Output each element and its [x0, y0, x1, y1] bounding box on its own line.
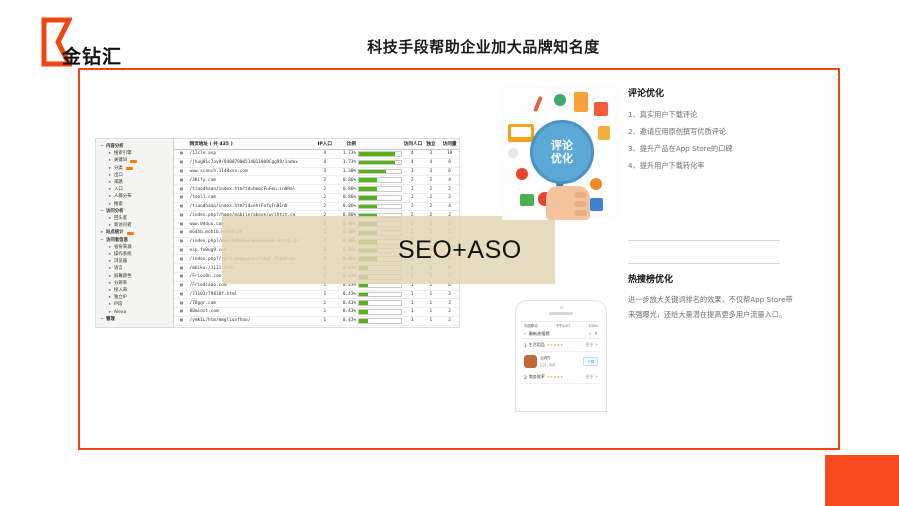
tree-item-label: 搜索	[114, 201, 123, 208]
table-row[interactable]: ▤/tool1.com20.86%223	[174, 193, 459, 202]
cell-ip: 1	[315, 290, 334, 299]
tree-item[interactable]: ▸来路	[99, 179, 171, 186]
download-button[interactable]: 下载	[583, 357, 598, 366]
expand-icon[interactable]: ▸	[108, 251, 112, 258]
tree-item-label: 搜索引擎	[114, 150, 132, 157]
expand-icon[interactable]: ▸	[108, 301, 112, 308]
cell-bar	[357, 290, 403, 299]
review-list-item: 1、真实用户下载评论	[628, 106, 798, 123]
cell-views: 2	[440, 185, 459, 194]
shield-icon	[554, 94, 566, 106]
cell-unique: 1	[422, 308, 441, 317]
cloud-icon	[508, 148, 518, 158]
expand-icon[interactable]: ▸	[108, 280, 112, 287]
cell-bar	[357, 167, 403, 176]
calendar-icon	[594, 102, 608, 116]
table-row[interactable]: ▤/12cle.asp41.73%4310	[174, 150, 459, 159]
more-link[interactable]: 更多 >	[585, 342, 598, 348]
cell-url: /tiaodhaan/index.htm?id=hmocFnFmn.in0Ral	[189, 185, 316, 194]
table-header-cell[interactable]	[174, 139, 189, 150]
cell-ip: 1	[315, 316, 334, 325]
progress-track	[358, 204, 402, 210]
progress-track	[358, 318, 402, 324]
page-icon: ▤	[174, 167, 189, 176]
review-list-item: 2、邀请应用原创撰写优质评论	[628, 123, 798, 140]
cell-visitors: 4	[403, 150, 422, 159]
cell-ip: 1	[315, 308, 334, 317]
page-icon: ▤	[174, 158, 189, 167]
cell-percent: 0.86%	[334, 193, 357, 202]
tree-item[interactable]: ▸分类	[99, 165, 171, 172]
page-icon: ▤	[174, 202, 189, 211]
rank-number: 1	[524, 343, 527, 348]
app-icon	[524, 355, 537, 368]
cell-unique: 2	[422, 185, 441, 194]
cell-views: 10	[440, 150, 459, 159]
qrcode-icon	[520, 194, 534, 206]
status-bar: 中国移动 下午4:57 100%	[521, 322, 601, 329]
cell-visitors: 4	[403, 158, 422, 167]
tree-item[interactable]: ▸接入商	[99, 287, 171, 294]
expand-icon[interactable]: ▸	[108, 244, 112, 251]
expand-icon[interactable]: ▸	[108, 150, 112, 157]
page-icon: ▤	[174, 150, 189, 159]
search-icon[interactable]: ⌕	[589, 331, 591, 337]
table-row[interactable]: ▤www.scanch.1140xxx.com31.30%336	[174, 167, 459, 176]
cell-bar	[357, 202, 403, 211]
progress-track	[358, 195, 402, 201]
review-list-item: 4、提升用户下载转化率	[628, 157, 798, 174]
progress-fill	[359, 310, 368, 314]
table-row[interactable]: ▤/tiaodhaan/index.htm?id=hmocFnFmn.in0Ra…	[174, 185, 459, 194]
magnifier-label-line1: 评论	[551, 139, 573, 152]
tree-item[interactable]: −访问分析	[99, 208, 171, 215]
progress-track	[358, 309, 402, 315]
page-icon: ▤	[174, 281, 189, 290]
speaker-icon	[549, 312, 573, 315]
progress-fill	[359, 178, 377, 182]
cell-unique: 3	[422, 167, 441, 176]
share-network-icon	[590, 198, 603, 211]
progress-fill	[359, 196, 377, 200]
table-row[interactable]: ▤/71102/79810f.html10.43%113	[174, 290, 459, 299]
cell-visitors: 1	[403, 316, 422, 325]
page-icon: ▤	[174, 220, 189, 229]
tree-item-label: 操作系统	[114, 251, 132, 258]
progress-fill	[359, 284, 368, 288]
tree-item-label: 省份来源	[114, 244, 132, 251]
cell-views: 3	[440, 290, 459, 299]
table-row[interactable]: ▤/ymk1L/htm/mmgliovfhao/10.43%112	[174, 316, 459, 325]
cell-unique: 4	[422, 158, 441, 167]
tree-item[interactable]: ▸搜索	[99, 201, 171, 208]
tree-item[interactable]: ▸回头客	[99, 215, 171, 222]
cell-views: 4	[440, 202, 459, 211]
chevron-left-icon[interactable]: ‹	[524, 331, 526, 336]
expand-icon[interactable]: ▸	[108, 294, 112, 301]
cell-unique: 1	[422, 290, 441, 299]
laptop-icon	[508, 124, 534, 142]
analytics-tree[interactable]: −内容分析▸搜索引擎▸关键词▸分类▸出口▸来路▸入口▸人群分布▸搜索−访问分析▸…	[96, 139, 174, 327]
mobile-app-icon	[574, 92, 588, 112]
table-header-row: 网页地址 ( 共 435 )IP入口比例访问人口独立访问量	[174, 139, 459, 150]
collapse-icon[interactable]: −	[100, 143, 104, 150]
tree-item[interactable]: ▸独立IP	[99, 294, 171, 301]
hotlist-heading: 热搜榜优化	[628, 272, 798, 285]
tree-item[interactable]: ▸IP段	[99, 301, 171, 308]
progress-fill	[359, 293, 368, 297]
cell-url: /tool1.com	[189, 193, 316, 202]
phone-screen: 中国移动 下午4:57 100% ‹ 最新热搜榜 ⌕ ⇪ 1生活用品★★★★★更…	[521, 321, 601, 411]
rank-section-header[interactable]: 1生活用品★★★★★更多 >	[521, 339, 601, 352]
cell-unique: 2	[422, 176, 441, 185]
carrier-label: 中国移动	[524, 323, 538, 328]
tree-item[interactable]: ▸关键词	[99, 157, 171, 164]
tree-item[interactable]: ▸分辨率	[99, 280, 171, 287]
clock-label: 下午4:57	[556, 323, 570, 328]
tree-item-label: 出口	[114, 172, 123, 179]
share-icon[interactable]: ⇪	[594, 331, 598, 336]
page-icon: ▤	[174, 316, 189, 325]
tree-item-label: 内容分析	[106, 143, 124, 150]
rank-title: 商务效率	[529, 374, 545, 380]
review-list-item: 3、提升产品在App Store的口碑	[628, 140, 798, 157]
tree-item[interactable]: ▸屏幕颜色	[99, 273, 171, 280]
battery-label: 100%	[588, 324, 598, 328]
progress-track	[358, 169, 402, 175]
cell-bar	[357, 185, 403, 194]
collapse-icon[interactable]: −	[100, 237, 104, 244]
progress-fill	[359, 187, 377, 191]
cell-visitors: 2	[403, 185, 422, 194]
cell-url: /ymk1L/htm/mmgliovfhao/	[189, 316, 316, 325]
hotlist-block: 热搜榜优化 进一步放大关键词排名的效果，不仅帮App Store带来强曝光，还给…	[628, 272, 798, 322]
cell-percent: 1.30%	[334, 167, 357, 176]
cell-bar	[357, 308, 403, 317]
progress-track	[358, 186, 402, 192]
tree-item-label: 屏幕颜色	[114, 273, 132, 280]
tree-item-label: 独立IP	[114, 294, 127, 301]
expand-icon[interactable]: ▸	[108, 215, 112, 222]
cell-ip: 4	[315, 158, 334, 167]
cell-ip: 4	[315, 150, 334, 159]
table-row[interactable]: ▤80miost.com10.43%112	[174, 308, 459, 317]
more-link[interactable]: 更多 >	[585, 374, 598, 380]
progress-track	[358, 177, 402, 183]
tree-item[interactable]: ▸操作系统	[99, 251, 171, 258]
cell-ip: 2	[315, 185, 334, 194]
cell-views: 2	[440, 308, 459, 317]
tree-item-label: 访问者信息	[106, 237, 128, 244]
cell-views: 6	[440, 167, 459, 176]
location-pin-icon	[516, 168, 528, 180]
cell-unique: 3	[422, 150, 441, 159]
table-header-cell[interactable]: 独立	[422, 139, 441, 150]
page-icon: ▤	[174, 176, 189, 185]
table-header-cell[interactable]: 访问量	[440, 139, 459, 150]
app-name: 云闪付	[540, 356, 580, 361]
rank-section-header[interactable]: 2商务效率★★★★★更多 >	[521, 371, 601, 384]
progress-fill	[359, 301, 368, 305]
tree-item[interactable]: ▸Alexa	[99, 309, 171, 316]
phone-earpiece	[516, 301, 606, 319]
cell-ip: 2	[315, 202, 334, 211]
expand-icon[interactable]: ▸	[108, 287, 112, 294]
expand-icon[interactable]: ▸	[108, 157, 112, 164]
review-block: 评论优化 1、真实用户下载评论2、邀请应用原创撰写优质评论3、提升产品在App …	[628, 86, 798, 174]
progress-track	[358, 292, 402, 298]
cell-ip: 3	[315, 167, 334, 176]
cell-unique: 2	[422, 202, 441, 211]
page-icon: ▤	[174, 193, 189, 202]
app-category: 生活 | 免费	[540, 362, 580, 367]
cell-visitors: 2	[403, 176, 422, 185]
tree-item[interactable]: ▸站点统计	[99, 229, 171, 236]
hand-graphic	[546, 186, 590, 220]
tree-item-label: 新访问者	[114, 222, 132, 229]
expand-icon[interactable]: ▸	[108, 201, 112, 208]
cell-views: 3	[440, 299, 459, 308]
expand-icon[interactable]: ▸	[108, 179, 112, 186]
overlay-label: SEO+ASO	[398, 236, 522, 265]
tree-item-label: IP段	[114, 301, 122, 308]
page-icon: ▤	[174, 237, 189, 246]
cell-unique: 1	[422, 299, 441, 308]
tree-item-label: 入口	[114, 186, 123, 193]
rating-stars-icon: ★★★★★	[547, 343, 564, 347]
page-icon: ▤	[174, 308, 189, 317]
cell-bar	[357, 176, 403, 185]
tree-item-label: Alexa	[114, 309, 126, 316]
tree-item-label: 分辨率	[114, 280, 127, 287]
progress-fill	[359, 205, 377, 209]
cell-visitors: 1	[403, 290, 422, 299]
cell-visitors: 2	[403, 202, 422, 211]
cell-unique: 1	[422, 316, 441, 325]
progress-fill	[359, 319, 368, 323]
table-header-cell[interactable]	[357, 139, 403, 150]
expand-icon[interactable]: ▸	[108, 258, 112, 265]
cell-visitors: 2	[403, 193, 422, 202]
rating-stars-icon: ★★★★★	[547, 375, 564, 379]
review-illustration: 评论 优化	[502, 82, 618, 220]
review-heading: 评论优化	[628, 86, 798, 99]
expand-icon[interactable]: ▸	[108, 273, 112, 280]
cell-bar	[357, 316, 403, 325]
expand-icon[interactable]: ▸	[108, 265, 112, 272]
tree-item[interactable]: −内容分析	[99, 143, 171, 150]
cell-views: 8	[440, 158, 459, 167]
new-badge-icon	[130, 160, 137, 163]
table-header-cell[interactable]: 网页地址 ( 共 435 )	[189, 139, 316, 150]
progress-fill	[359, 152, 395, 156]
table-header-cell[interactable]: IP入口	[315, 139, 334, 150]
cell-views: 3	[440, 193, 459, 202]
cell-bar	[357, 193, 403, 202]
cell-ip: 1	[315, 299, 334, 308]
page-icon: ▤	[174, 299, 189, 308]
slide-canvas: 金钻汇 科技手段帮助企业加大品牌知名度 −内容分析▸搜索引擎▸关键词▸分类▸出口…	[0, 0, 899, 506]
divider-top	[628, 240, 780, 241]
tree-item-label: 分类	[114, 165, 123, 172]
table-row[interactable]: ▤/3Kify.com20.86%224	[174, 176, 459, 185]
page-icon: ▤	[174, 246, 189, 255]
cell-url: /12cle.asp	[189, 150, 316, 159]
rank-title: 生活用品	[529, 342, 545, 348]
tree-item-label: 来路	[114, 179, 123, 186]
cell-percent: 0.86%	[334, 202, 357, 211]
cell-url: /78ggr.com	[189, 299, 316, 308]
cell-percent: 1.73%	[334, 150, 357, 159]
cell-percent: 0.86%	[334, 185, 357, 194]
cell-unique: 2	[422, 193, 441, 202]
tree-item[interactable]: ▸新访问者	[99, 222, 171, 229]
expand-icon[interactable]: ▸	[108, 222, 112, 229]
progress-fill	[359, 161, 395, 165]
progress-track	[358, 160, 402, 166]
page-title-text: 科技手段帮助企业加大品牌知名度	[367, 36, 600, 57]
table-header-cell[interactable]: 访问人口	[403, 139, 422, 150]
phone-mockup: 中国移动 下午4:57 100% ‹ 最新热搜榜 ⌕ ⇪ 1生活用品★★★★★更…	[515, 300, 607, 412]
tree-item[interactable]: ▸搜索引擎	[99, 150, 171, 157]
progress-track	[358, 151, 402, 157]
expand-icon[interactable]: ▸	[108, 165, 112, 172]
table-row[interactable]: ▤/tiaodhaan/index.htm?id=ehrFofuFn01n020…	[174, 202, 459, 211]
page-title: 科技手段帮助企业加大品牌知名度	[0, 36, 899, 57]
table-row[interactable]: ▤/78ggr.com10.43%113	[174, 299, 459, 308]
tree-item[interactable]: ▸浏览器	[99, 258, 171, 265]
cell-url: /3Kify.com	[189, 176, 316, 185]
expand-icon[interactable]: ▸	[108, 309, 112, 316]
cell-percent: 1.73%	[334, 158, 357, 167]
page-icon: ▤	[174, 290, 189, 299]
cell-url: www.scanch.1140xxx.com	[189, 167, 316, 176]
review-list: 1、真实用户下载评论2、邀请应用原创撰写优质评论3、提升产品在App Store…	[628, 106, 798, 174]
cell-bar	[357, 158, 403, 167]
page-icon: ▤	[174, 272, 189, 281]
tree-item-label: 站点统计	[106, 229, 124, 236]
tree-item-label: 浏览器	[114, 258, 127, 265]
collapse-icon[interactable]: −	[100, 316, 104, 323]
cell-bar	[357, 150, 403, 159]
tree-item[interactable]: −管理	[99, 316, 171, 323]
app-meta: 云闪付生活 | 免费	[540, 356, 580, 367]
cell-bar	[357, 299, 403, 308]
tree-item[interactable]: ▸出口	[99, 172, 171, 179]
app-list-item[interactable]: 云闪付生活 | 免费下载	[521, 352, 601, 371]
cell-percent: 0.43%	[334, 299, 357, 308]
magnifier-icon: 评论 优化	[530, 120, 594, 184]
cell-url: /jhug01c7ov9/94007900514011009Cgg98/inde…	[189, 158, 316, 167]
hotlist-paragraph: 进一步放大关键词排名的效果，不仅帮App Store带来强曝光，还给大量潜在提高…	[628, 292, 798, 322]
cell-ip: 2	[315, 193, 334, 202]
tree-item[interactable]: ▸语言	[99, 265, 171, 272]
new-badge-icon	[126, 167, 133, 170]
note-icon	[598, 126, 610, 140]
tree-item-label: 语言	[114, 265, 123, 272]
cell-url: /tiaodhaan/index.htm?id=ehrFofuFn01n0	[189, 202, 316, 211]
divider-bottom	[628, 263, 780, 264]
table-header-cell[interactable]: 比例	[334, 139, 357, 150]
page-icon: ▤	[174, 211, 189, 220]
cell-ip: 2	[315, 176, 334, 185]
progress-fill	[359, 170, 386, 174]
page-icon: ▤	[174, 185, 189, 194]
table-row[interactable]: ▤/jhug01c7ov9/94007900514011009Cgg98/ind…	[174, 158, 459, 167]
rss-icon	[590, 178, 602, 190]
rank-number: 2	[524, 375, 527, 380]
cell-percent: 0.43%	[334, 290, 357, 299]
page-icon: ▤	[174, 264, 189, 273]
magnifier-label-line2: 优化	[551, 152, 573, 165]
expand-icon[interactable]: ▸	[108, 186, 112, 193]
camera-icon	[560, 306, 563, 309]
cell-views: 2	[440, 316, 459, 325]
tree-item[interactable]: ▸入口	[99, 186, 171, 193]
expand-icon[interactable]: ▸	[108, 193, 112, 200]
expand-icon[interactable]: ▸	[108, 172, 112, 179]
tree-item-label: 接入商	[114, 287, 127, 294]
cell-percent: 0.43%	[334, 308, 357, 317]
app-navbar: ‹ 最新热搜榜 ⌕ ⇪	[521, 329, 601, 339]
tree-item-label: 人群分布	[114, 193, 132, 200]
tree-item[interactable]: ▸人群分布	[99, 193, 171, 200]
tree-item-label: 关键词	[114, 157, 127, 164]
cell-visitors: 3	[403, 167, 422, 176]
tree-item[interactable]: −访问者信息	[99, 237, 171, 244]
new-badge-icon	[127, 232, 134, 235]
cell-visitors: 1	[403, 308, 422, 317]
page-icon: ▤	[174, 229, 189, 238]
cell-percent: 0.43%	[334, 316, 357, 325]
collapse-icon[interactable]: ▸	[100, 229, 104, 236]
tree-item[interactable]: ▸省份来源	[99, 244, 171, 251]
page-icon: ▤	[174, 255, 189, 264]
cell-url: 80miost.com	[189, 308, 316, 317]
collapse-icon[interactable]: −	[100, 208, 104, 215]
progress-track	[358, 300, 402, 306]
cell-visitors: 1	[403, 299, 422, 308]
app-nav-title: 最新热搜榜	[529, 331, 550, 337]
corner-accent-block	[825, 455, 899, 506]
cell-url: /71102/79810f.html	[189, 290, 316, 299]
tree-item-label: 管理	[106, 316, 115, 323]
cell-percent: 0.86%	[334, 176, 357, 185]
app-rank-list: 1生活用品★★★★★更多 >云闪付生活 | 免费下载2商务效率★★★★★更多 >	[521, 339, 601, 384]
tree-item-label: 访问分析	[106, 208, 124, 215]
cell-views: 4	[440, 176, 459, 185]
tree-item-label: 回头客	[114, 215, 127, 222]
